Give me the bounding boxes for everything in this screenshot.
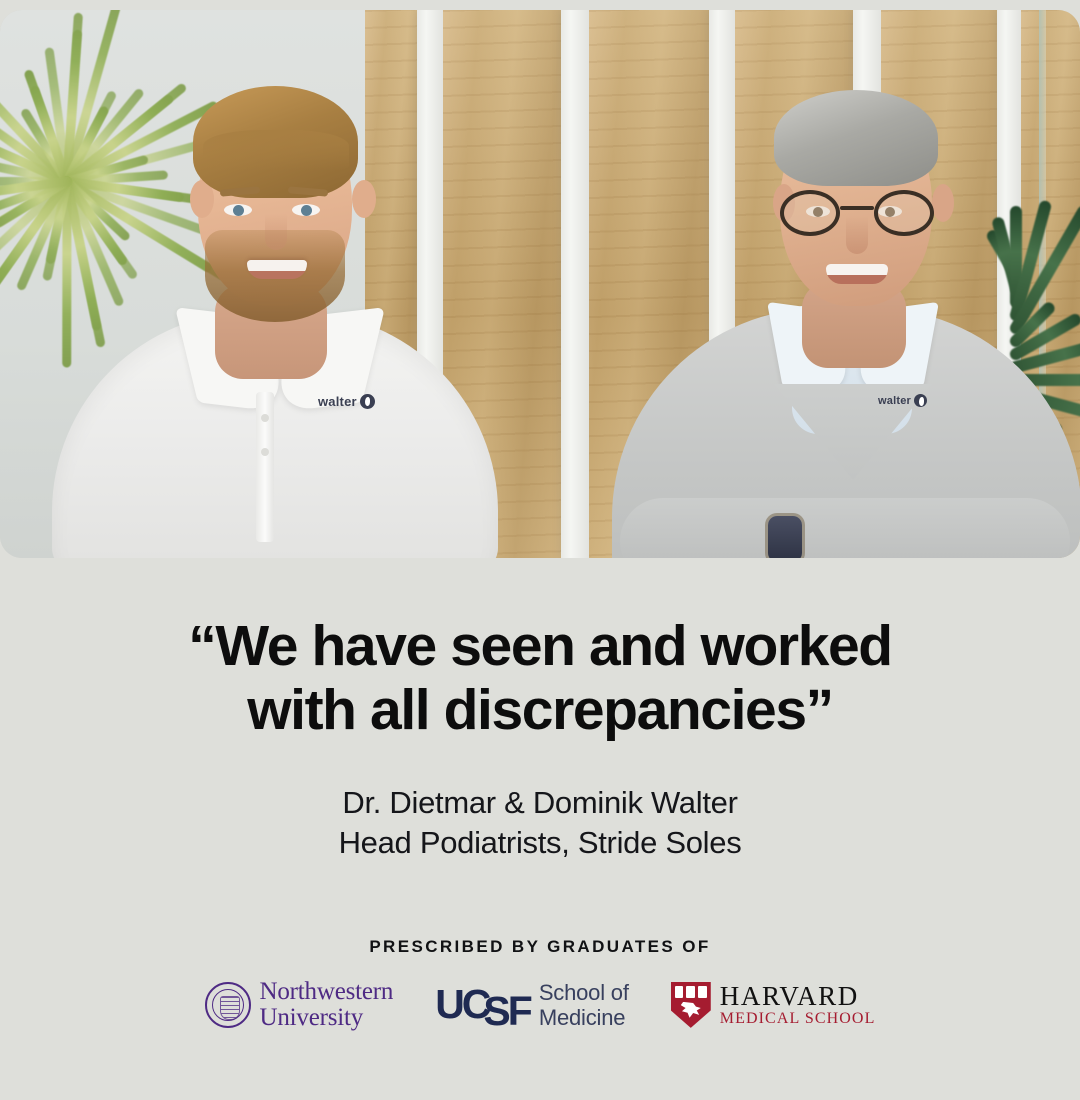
shirt-button <box>261 414 269 422</box>
ear-right <box>352 180 376 218</box>
shirt-button <box>261 448 269 456</box>
glasses-bridge <box>840 206 874 210</box>
northwestern-seal-icon <box>205 982 251 1028</box>
wristwatch-icon <box>768 516 802 558</box>
testimonial-photo: walter <box>0 10 1080 558</box>
quote-text: “We have seen and worked with all discre… <box>100 614 980 743</box>
crossed-arms <box>620 498 1070 558</box>
logo-harvard-medical-school[interactable]: HARVARD MEDICAL SCHOOL <box>671 982 876 1028</box>
quote-line-2: with all discrepancies” <box>247 678 833 742</box>
eye-right <box>292 204 320 216</box>
person-older-man: walter <box>650 68 1050 558</box>
harvard-line-1: HARVARD <box>720 982 876 1010</box>
person-young-man: walter <box>60 62 490 558</box>
walter-foot-icon <box>914 394 927 407</box>
walter-logo-polo: walter <box>318 394 392 420</box>
mouth <box>826 264 888 284</box>
testimonial-card: walter <box>0 0 1080 1100</box>
ucsf-sf: SF <box>483 991 529 1032</box>
northwestern-line-2: University <box>260 1005 394 1031</box>
attribution-role: Head Podiatrists, Stride Soles <box>339 823 742 863</box>
hair <box>193 86 358 198</box>
quote-line-1: “We have seen and worked <box>188 614 891 678</box>
mouth <box>247 260 307 279</box>
northwestern-wordmark: Northwestern University <box>260 979 394 1030</box>
ucsf-subtitle: School of Medicine <box>539 980 629 1030</box>
harvard-lion <box>681 1002 701 1020</box>
credential-logos: Northwestern University UCSF School of M… <box>205 979 876 1030</box>
attribution-names: Dr. Dietmar & Dominik Walter <box>342 785 737 820</box>
harvard-line-2: MEDICAL SCHOOL <box>720 1011 876 1028</box>
nose <box>265 214 287 250</box>
ucsf-line-2: Medicine <box>539 1005 629 1030</box>
logo-northwestern-university[interactable]: Northwestern University <box>205 979 394 1030</box>
northwestern-line-1: Northwestern <box>260 979 394 1005</box>
credentials-eyebrow: PRESCRIBED BY GRADUATES OF <box>369 937 710 957</box>
harvard-shield-icon <box>671 982 711 1028</box>
ucsf-wordmark-icon: UCSF <box>435 984 530 1025</box>
logo-ucsf-school-of-medicine[interactable]: UCSF School of Medicine <box>435 980 629 1030</box>
lens-right <box>874 190 934 236</box>
walter-wordmark-text: walter <box>878 395 911 407</box>
attribution: Dr. Dietmar & Dominik Walter Head Podiat… <box>339 783 742 864</box>
eye-left <box>224 204 252 216</box>
walter-wordmark-text: walter <box>318 394 357 409</box>
photo-scene: walter <box>0 10 1080 558</box>
ucsf-line-1: School of <box>539 980 629 1005</box>
harvard-books <box>675 986 707 998</box>
wall-post <box>561 10 589 558</box>
walter-logo-sweater: walter <box>878 394 944 418</box>
nose <box>846 216 868 254</box>
hair <box>774 90 938 186</box>
harvard-wordmark: HARVARD MEDICAL SCHOOL <box>720 982 876 1028</box>
testimonial-content: “We have seen and worked with all discre… <box>0 558 1080 1100</box>
lens-left <box>780 190 840 236</box>
walter-foot-icon <box>360 394 375 409</box>
ucsf-uc: UC <box>435 981 488 1027</box>
